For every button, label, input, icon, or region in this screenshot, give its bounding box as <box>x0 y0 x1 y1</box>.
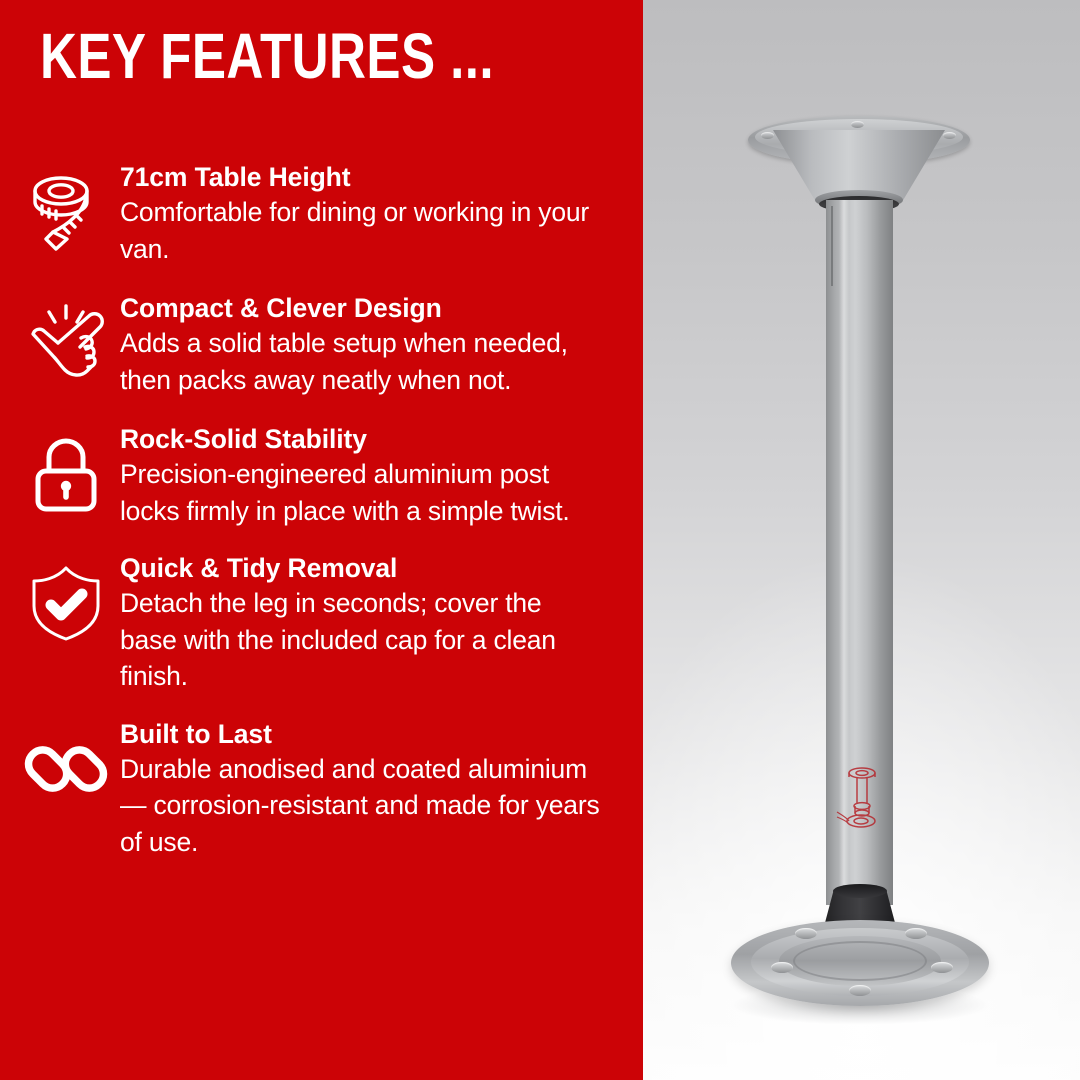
feature-text: Compact & Clever Design Adds a solid tab… <box>114 291 643 398</box>
snap-fingers-icon <box>18 295 114 391</box>
feature-description: Comfortable for dining or working in you… <box>120 194 603 267</box>
base-screw-front <box>849 985 871 996</box>
base-screw-right <box>931 962 953 973</box>
chain-link-icon <box>18 721 114 817</box>
padlock-icon <box>18 426 114 522</box>
feature-list: 71cm Table Height Comfortable for dining… <box>0 160 643 866</box>
tape-measure-icon <box>18 164 114 260</box>
table-leg-product-image <box>643 0 1080 1080</box>
feature-text: Rock-Solid Stability Precision-engineere… <box>114 422 643 529</box>
feature-title: Quick & Tidy Removal <box>120 551 603 585</box>
base-screw-back-left <box>795 928 817 939</box>
list-item: Quick & Tidy Removal Detach the leg in s… <box>0 551 643 695</box>
top-flange-screw-left <box>761 132 774 139</box>
page-title: KEY FEATURES ... <box>40 22 494 90</box>
product-photo-panel <box>643 0 1080 1080</box>
feature-title: Built to Last <box>120 717 603 751</box>
list-item: Compact & Clever Design Adds a solid tab… <box>0 291 643 398</box>
feature-text: 71cm Table Height Comfortable for dining… <box>114 160 643 267</box>
top-flange-screw-right <box>943 132 956 139</box>
feature-title: 71cm Table Height <box>120 160 603 194</box>
features-panel: KEY FEATURES ... 71cm Table H <box>0 0 643 1080</box>
list-item: 71cm Table Height Comfortable for dining… <box>0 160 643 267</box>
feature-text: Built to Last Durable anodised and coate… <box>114 717 643 861</box>
shield-check-icon <box>18 555 114 651</box>
red-product-decal <box>835 764 887 836</box>
feature-description: Precision-engineered aluminium post lock… <box>120 456 603 529</box>
top-flange-screw-back <box>851 121 864 128</box>
product-feature-graphic: KEY FEATURES ... 71cm Table H <box>0 0 1080 1080</box>
feature-title: Compact & Clever Design <box>120 291 603 325</box>
feature-title: Rock-Solid Stability <box>120 422 603 456</box>
base-rotation-groove <box>793 941 927 981</box>
feature-text: Quick & Tidy Removal Detach the leg in s… <box>114 551 643 695</box>
list-item: Built to Last Durable anodised and coate… <box>0 717 643 861</box>
collar-top-rim <box>833 884 887 898</box>
feature-description: Adds a solid table setup when needed, th… <box>120 325 603 398</box>
feature-description: Detach the leg in seconds; cover the bas… <box>120 585 603 695</box>
base-screw-left <box>771 962 793 973</box>
list-item: Rock-Solid Stability Precision-engineere… <box>0 422 643 529</box>
post-seam-line <box>831 206 833 286</box>
feature-description: Durable anodised and coated aluminium — … <box>120 751 603 861</box>
base-screw-back-right <box>905 928 927 939</box>
